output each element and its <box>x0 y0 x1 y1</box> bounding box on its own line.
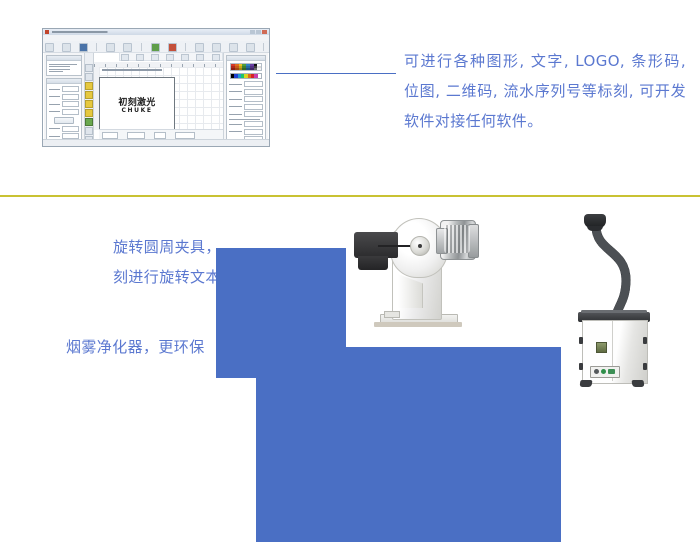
prop-input[interactable] <box>244 81 263 87</box>
apply-parameter-button[interactable] <box>54 117 74 124</box>
software-feature-caption: 可进行各种图形, 文字, LOGO, 条形码, 位图, 二维码, 流水序列号等标… <box>404 46 686 136</box>
canvas-hint-text <box>102 69 162 71</box>
redo-icon[interactable] <box>123 43 132 52</box>
app-logo-icon <box>45 30 49 34</box>
prop-input[interactable] <box>244 96 263 102</box>
prop-input[interactable] <box>244 104 263 110</box>
indicator-light-icon <box>601 369 606 374</box>
right-dock <box>223 53 268 140</box>
maximize-icon[interactable] <box>256 30 261 34</box>
curve-tool-icon[interactable] <box>85 82 93 90</box>
align-left-icon[interactable] <box>195 43 204 52</box>
prop-row-font[interactable] <box>229 121 263 127</box>
array-icon[interactable] <box>166 54 174 61</box>
open-file-icon[interactable] <box>62 43 71 52</box>
param-label <box>49 89 60 90</box>
stop-icon[interactable] <box>168 43 177 52</box>
prop-row-name[interactable] <box>229 81 263 87</box>
tool-palette[interactable] <box>85 53 94 140</box>
fixture-chuck-jaws <box>444 225 470 253</box>
engraved-artwork: 初刻激光 CHUKE <box>100 99 174 115</box>
color-panel-body[interactable] <box>227 61 265 147</box>
caster-wheel <box>632 380 645 387</box>
prop-input[interactable] <box>244 89 263 95</box>
close-icon[interactable] <box>262 30 267 34</box>
window-controls[interactable] <box>250 30 267 34</box>
prop-divider <box>229 119 260 120</box>
cabinet-badge <box>596 342 607 353</box>
cabinet-latch <box>643 363 647 370</box>
object-row[interactable] <box>49 71 63 72</box>
align-center-icon[interactable] <box>212 43 221 52</box>
prop-input[interactable] <box>244 111 263 117</box>
color-swatch[interactable] <box>258 74 261 78</box>
status-bar <box>43 139 269 146</box>
prop-row-x[interactable] <box>229 89 263 95</box>
fume-purifier-image <box>560 200 680 395</box>
rotary-fixture-image <box>352 212 512 342</box>
distribute-icon[interactable] <box>246 43 255 52</box>
mark-parameter-panel[interactable] <box>46 78 82 148</box>
node-tool-icon[interactable] <box>85 73 93 81</box>
mark-button[interactable] <box>102 132 118 139</box>
top-section: 初刻激光 CHUKE <box>0 0 700 196</box>
param-input[interactable] <box>62 109 79 115</box>
cabinet-latch <box>579 363 583 370</box>
mark-parameter-body[interactable] <box>47 84 81 147</box>
undo-icon[interactable] <box>106 43 115 52</box>
prop-input[interactable] <box>244 121 263 127</box>
run-mark-icon[interactable] <box>151 43 160 52</box>
prop-label <box>229 99 242 100</box>
param-label <box>49 136 60 137</box>
purifier-control-panel[interactable] <box>590 366 620 378</box>
toolbar-separator <box>263 43 264 51</box>
prop-input[interactable] <box>244 129 263 135</box>
minimize-icon[interactable] <box>250 30 255 34</box>
power-knob-icon[interactable] <box>594 369 599 374</box>
toolbar-separator <box>185 43 186 51</box>
color-swatch-grid[interactable] <box>230 63 262 71</box>
count-input[interactable] <box>175 132 195 139</box>
offset-icon[interactable] <box>212 54 220 61</box>
object-row[interactable] <box>49 66 70 67</box>
param-row-speed[interactable] <box>49 86 79 92</box>
weld-icon[interactable] <box>151 54 159 61</box>
rectangle-tool-icon[interactable] <box>85 91 93 99</box>
ellipse-tool-icon[interactable] <box>85 100 93 108</box>
toolbar-separator <box>96 43 97 51</box>
secondary-toolbar[interactable] <box>119 52 223 61</box>
rotate-icon[interactable] <box>181 54 189 61</box>
toolbar-separator <box>141 43 142 51</box>
fume-purifier-caption: 烟雾净化器，更环保 <box>66 336 266 358</box>
param-input[interactable] <box>62 86 79 92</box>
param-row-delay[interactable] <box>49 126 79 132</box>
object-row[interactable] <box>49 69 70 70</box>
prop-label <box>229 91 242 92</box>
suction-hood <box>584 214 606 228</box>
cabinet-latch <box>579 337 583 344</box>
artwork-latin-text: CHUKE <box>100 109 174 115</box>
param-input[interactable] <box>62 101 79 107</box>
prop-row-y[interactable] <box>229 96 263 102</box>
save-icon[interactable] <box>79 43 88 52</box>
param-row-frequency[interactable] <box>49 101 79 107</box>
preview-button[interactable] <box>127 132 145 139</box>
align-right-icon[interactable] <box>229 43 238 52</box>
prop-label <box>229 124 242 125</box>
param-label <box>49 96 60 97</box>
fixture-hub <box>410 236 430 256</box>
cabinet-latch <box>643 337 647 344</box>
app-title-text <box>52 31 250 33</box>
param-row-power[interactable] <box>49 94 79 100</box>
barcode-tool-icon[interactable] <box>85 127 93 135</box>
prop-label <box>229 114 242 115</box>
polygon-tool-icon[interactable] <box>85 109 93 117</box>
text-tool-icon[interactable] <box>85 118 93 126</box>
new-file-icon[interactable] <box>45 43 54 52</box>
software-screenshot: 初刻激光 CHUKE <box>42 28 270 147</box>
prop-row-height[interactable] <box>229 111 263 117</box>
object-list-panel[interactable] <box>46 55 82 76</box>
param-input[interactable] <box>62 126 79 132</box>
param-label <box>49 128 60 129</box>
object-row[interactable] <box>49 64 77 65</box>
left-dock <box>44 53 85 140</box>
param-label <box>49 111 60 112</box>
trim-icon[interactable] <box>136 54 144 61</box>
continuous-checkbox[interactable] <box>154 132 166 139</box>
promo-page: 初刻激光 CHUKE <box>0 0 700 400</box>
caster-wheel <box>580 380 593 387</box>
connector-line-fume <box>256 347 561 542</box>
param-row-count[interactable] <box>49 109 79 115</box>
param-label <box>49 104 60 105</box>
prop-label <box>229 131 242 132</box>
prop-row-size[interactable] <box>229 129 263 135</box>
color-swatch[interactable] <box>257 68 261 70</box>
fixture-base-shadow <box>374 322 462 327</box>
object-list-body[interactable] <box>47 61 81 75</box>
speed-display-icon <box>608 369 615 374</box>
workpiece-outline[interactable]: 初刻激光 CHUKE <box>99 77 175 137</box>
fixture-foot <box>384 311 400 318</box>
mirror-icon[interactable] <box>196 54 204 61</box>
color-panel[interactable] <box>226 55 266 147</box>
connector-line-software <box>276 73 396 74</box>
prop-row-width[interactable] <box>229 104 263 110</box>
param-input[interactable] <box>62 94 79 100</box>
quick-color-bar[interactable] <box>230 73 262 79</box>
node-edit-icon[interactable] <box>121 54 129 61</box>
prop-label <box>229 106 242 107</box>
select-tool-icon[interactable] <box>85 64 93 72</box>
prop-label <box>229 84 242 85</box>
